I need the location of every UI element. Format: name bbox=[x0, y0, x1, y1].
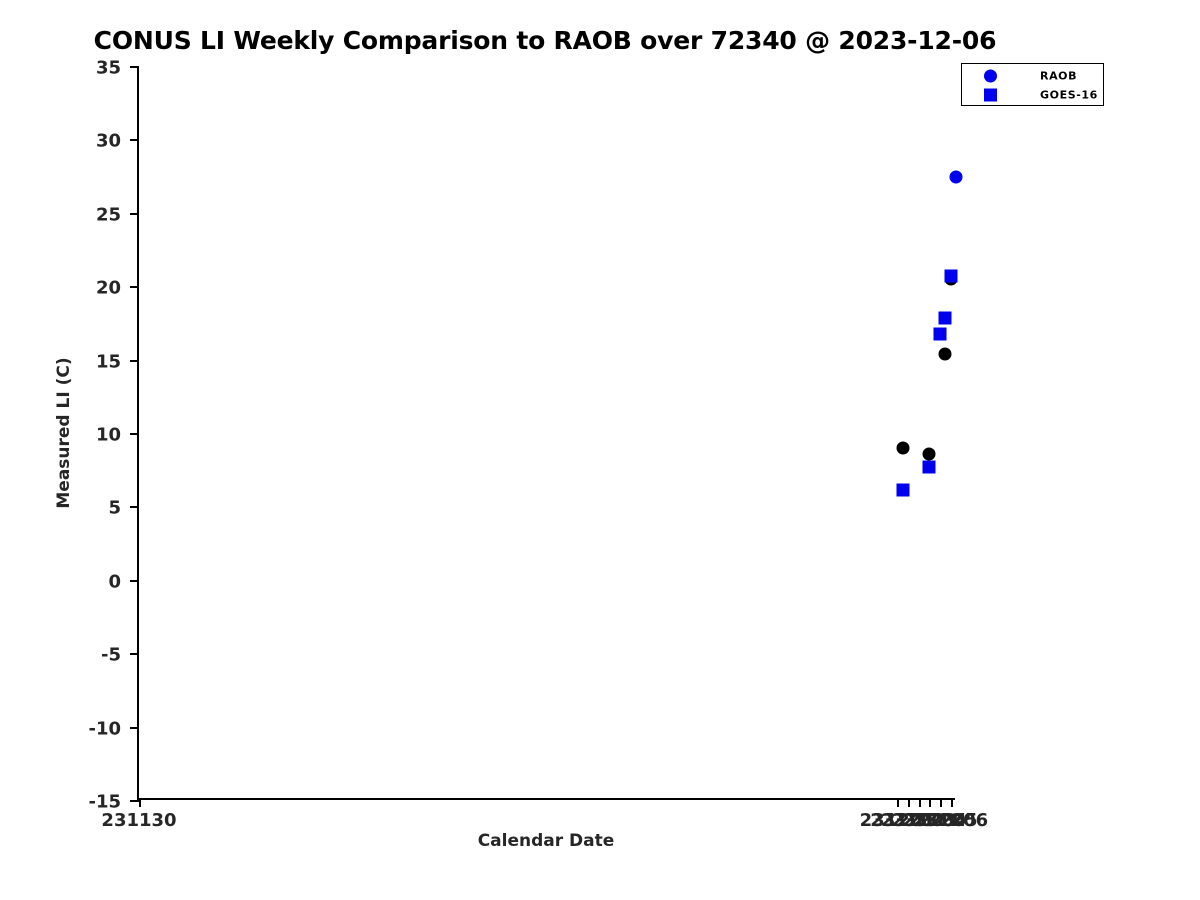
y-axis-tick: 10 bbox=[130, 433, 139, 435]
y-axis-title: Measured LI (C) bbox=[54, 357, 74, 508]
legend-square-marker-icon bbox=[984, 89, 997, 102]
y-axis-tick: 5 bbox=[130, 506, 139, 508]
data-point-goes-16 bbox=[933, 327, 946, 340]
y-axis-tick: -15 bbox=[130, 800, 139, 802]
y-axis-tick: 15 bbox=[130, 360, 139, 362]
x-axis-tick bbox=[897, 798, 899, 807]
y-axis-tick: 25 bbox=[130, 213, 139, 215]
y-axis-tick: 30 bbox=[130, 139, 139, 141]
chart-legend: RAOB GOES-16 bbox=[961, 63, 1104, 106]
legend-entry-goes16: GOES-16 bbox=[962, 85, 1103, 105]
x-axis-tick bbox=[940, 798, 942, 807]
y-axis-tick: 20 bbox=[130, 286, 139, 288]
plot-area: 35302520151050-5-10-15 23113023120123120… bbox=[137, 66, 955, 800]
data-point-goes-16 bbox=[944, 269, 957, 282]
legend-circle-marker-icon bbox=[984, 70, 997, 83]
data-point-goes-16 bbox=[923, 460, 936, 473]
x-axis-tick bbox=[951, 798, 953, 807]
data-point-goes-16 bbox=[939, 312, 952, 325]
legend-label-goes16: GOES-16 bbox=[1040, 89, 1098, 102]
x-axis-tick-label: 231206 bbox=[913, 810, 988, 831]
y-axis-tick: -10 bbox=[130, 727, 139, 729]
y-axis-tick-label: 30 bbox=[96, 131, 121, 152]
data-point-raob bbox=[939, 348, 952, 361]
y-axis-tick-label: 10 bbox=[96, 425, 121, 446]
data-point-raob bbox=[949, 170, 962, 183]
x-axis-tick bbox=[139, 798, 141, 807]
x-axis-tick bbox=[919, 798, 921, 807]
data-point-raob bbox=[896, 441, 909, 454]
y-axis-tick-label: -10 bbox=[88, 718, 121, 739]
y-axis-tick-label: 25 bbox=[96, 204, 121, 225]
y-axis-tick-label: -5 bbox=[101, 645, 121, 666]
data-point-goes-16 bbox=[896, 484, 909, 497]
legend-label-raob: RAOB bbox=[1040, 70, 1077, 83]
x-axis-tick-label: 231130 bbox=[101, 810, 176, 831]
x-axis-tick bbox=[908, 798, 910, 807]
chart-figure: CONUS LI Weekly Comparison to RAOB over … bbox=[0, 0, 1200, 900]
y-axis-tick: -5 bbox=[130, 653, 139, 655]
y-axis-tick-label: 5 bbox=[108, 498, 121, 519]
y-axis-tick: 0 bbox=[130, 580, 139, 582]
y-axis-tick: 35 bbox=[130, 66, 139, 68]
x-axis-tick bbox=[929, 798, 931, 807]
y-axis-tick-label: 0 bbox=[108, 571, 121, 592]
x-axis-title: Calendar Date bbox=[478, 831, 615, 851]
data-point-raob bbox=[923, 447, 936, 460]
y-axis-tick-label: 20 bbox=[96, 278, 121, 299]
chart-title: CONUS LI Weekly Comparison to RAOB over … bbox=[0, 26, 1090, 55]
y-axis-tick-label: 35 bbox=[96, 58, 121, 79]
y-axis-tick-label: 15 bbox=[96, 351, 121, 372]
legend-entry-raob: RAOB bbox=[962, 66, 1103, 86]
